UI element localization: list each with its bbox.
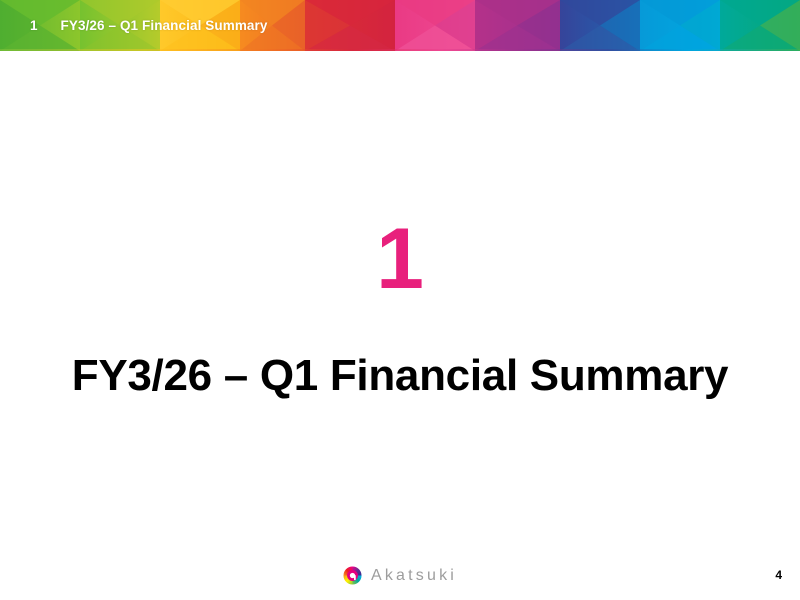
- banner-underline-strip: [0, 49, 800, 51]
- footer-logo-text: Akatsuki: [371, 567, 457, 585]
- page-number: 4: [775, 568, 782, 582]
- footer-logo-group: Akatsuki: [0, 566, 800, 585]
- banner-geometric-pattern-icon: [0, 0, 800, 51]
- akatsuki-ring-logo-icon: [343, 566, 362, 585]
- slide-root: 1 FY3/26 – Q1 Financial Summary 1 FY3/26…: [0, 0, 800, 600]
- header-banner: 1 FY3/26 – Q1 Financial Summary: [0, 0, 800, 51]
- section-number-display: 1: [0, 216, 800, 302]
- page-title: FY3/26 – Q1 Financial Summary: [0, 349, 800, 403]
